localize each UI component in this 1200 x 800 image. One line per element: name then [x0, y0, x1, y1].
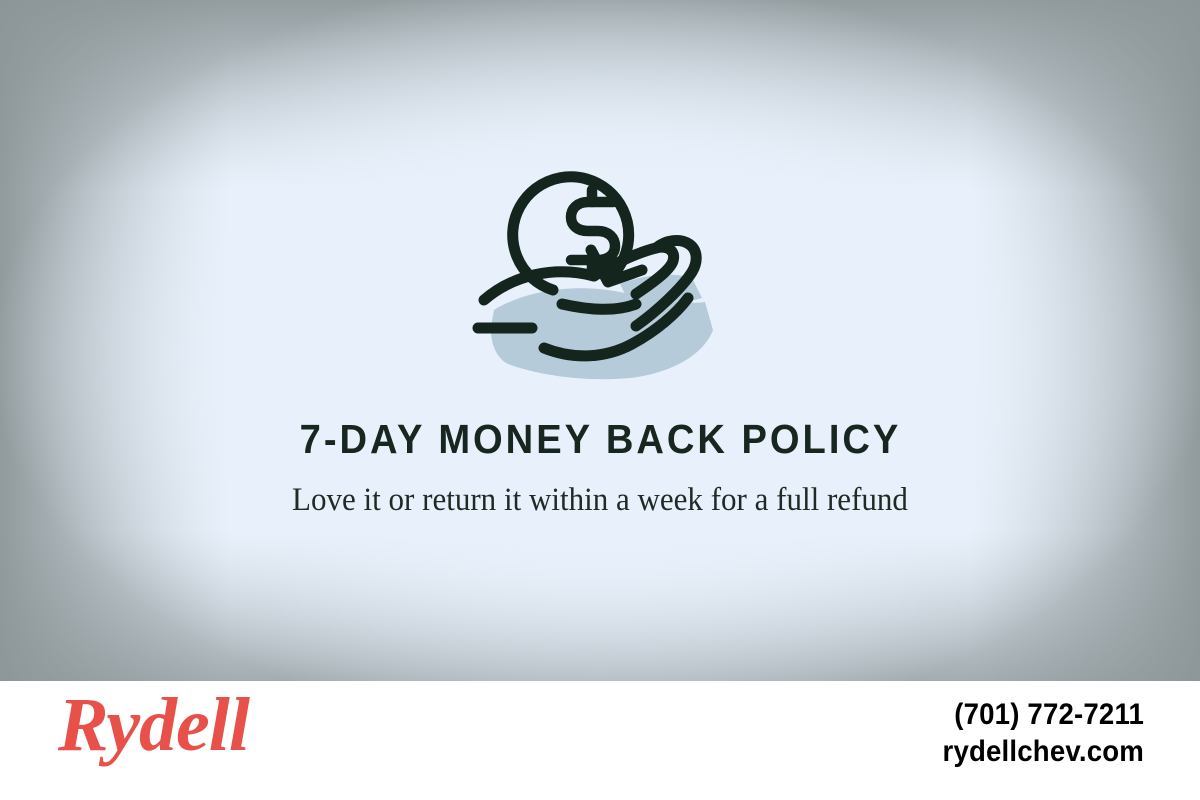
dollar-sign-icon	[571, 190, 615, 272]
phone-number[interactable]: (701) 772-7211	[943, 697, 1144, 734]
hero-content: 7-DAY MONEY BACK POLICY Love it or retur…	[0, 0, 1200, 681]
footer-bar: Rydell (701) 772-7211 rydellchev.com	[0, 681, 1200, 800]
promo-banner: 7-DAY MONEY BACK POLICY Love it or retur…	[0, 0, 1200, 800]
page-title: 7-DAY MONEY BACK POLICY	[299, 418, 901, 461]
contact-block: (701) 772-7211 rydellchev.com	[925, 697, 1144, 770]
rydell-logo[interactable]: Rydell	[58, 687, 249, 763]
website-url[interactable]: rydellchev.com	[943, 734, 1144, 771]
money-back-hand-icon	[470, 152, 730, 390]
page-subtitle: Love it or return it within a week for a…	[271, 479, 929, 523]
